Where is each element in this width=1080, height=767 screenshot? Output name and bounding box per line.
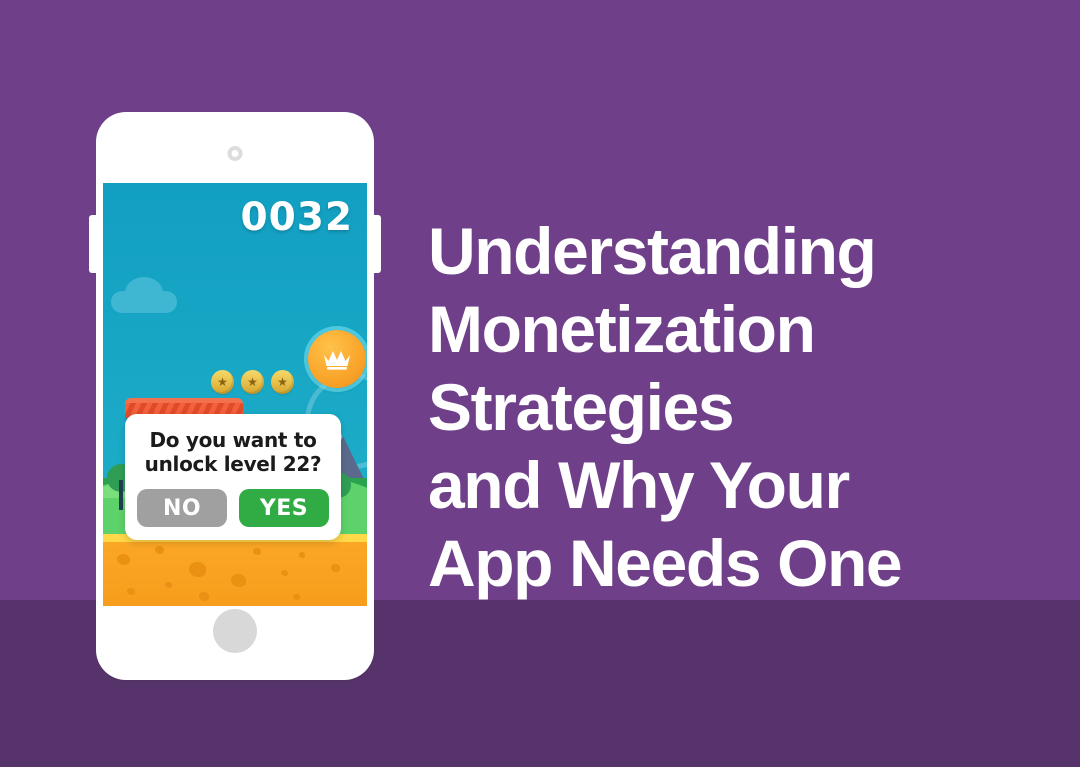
- unlock-level-dialog: Do you want to unlock level 22? NO YES: [125, 414, 341, 540]
- yes-button[interactable]: YES: [239, 489, 329, 527]
- tree-trunk: [119, 480, 123, 510]
- score-display: 0032: [240, 195, 353, 240]
- rock-shape: [299, 552, 305, 558]
- rock-shape: [165, 582, 172, 588]
- front-camera-icon: [228, 146, 243, 161]
- star-coin-icon[interactable]: ★: [271, 370, 294, 394]
- rock-shape: [155, 546, 164, 554]
- coin-glyph: ★: [277, 376, 288, 388]
- rock-shape: [231, 574, 246, 587]
- game-screen: ★ ★ ★ 0032 Do you want to unlock level 2…: [103, 183, 367, 606]
- crown-badge-icon[interactable]: [308, 330, 366, 388]
- poster-canvas: ★ ★ ★ 0032 Do you want to unlock level 2…: [0, 0, 1080, 767]
- rock-shape: [331, 564, 340, 572]
- rock-shape: [117, 554, 130, 565]
- cloud-icon: [111, 291, 177, 313]
- coin-glyph: ★: [217, 376, 228, 388]
- rock-shape: [127, 588, 135, 595]
- rock-shape: [199, 592, 209, 601]
- dialog-message: Do you want to unlock level 22?: [137, 428, 329, 476]
- volume-button[interactable]: [89, 215, 97, 273]
- rock-shape: [253, 548, 261, 555]
- phone-mockup: ★ ★ ★ 0032 Do you want to unlock level 2…: [96, 112, 374, 680]
- star-coin-icon[interactable]: ★: [241, 370, 264, 394]
- dialog-actions: NO YES: [137, 489, 329, 527]
- dirt-layer: [103, 542, 367, 606]
- star-coin-icon[interactable]: ★: [211, 370, 234, 394]
- rock-shape: [281, 570, 288, 576]
- rock-shape: [293, 594, 300, 600]
- coin-glyph: ★: [247, 376, 258, 388]
- rock-shape: [189, 562, 206, 577]
- page-title: Understanding Monetization Strategies an…: [428, 212, 1048, 602]
- power-button[interactable]: [373, 215, 381, 273]
- home-button[interactable]: [213, 609, 257, 653]
- no-button[interactable]: NO: [137, 489, 227, 527]
